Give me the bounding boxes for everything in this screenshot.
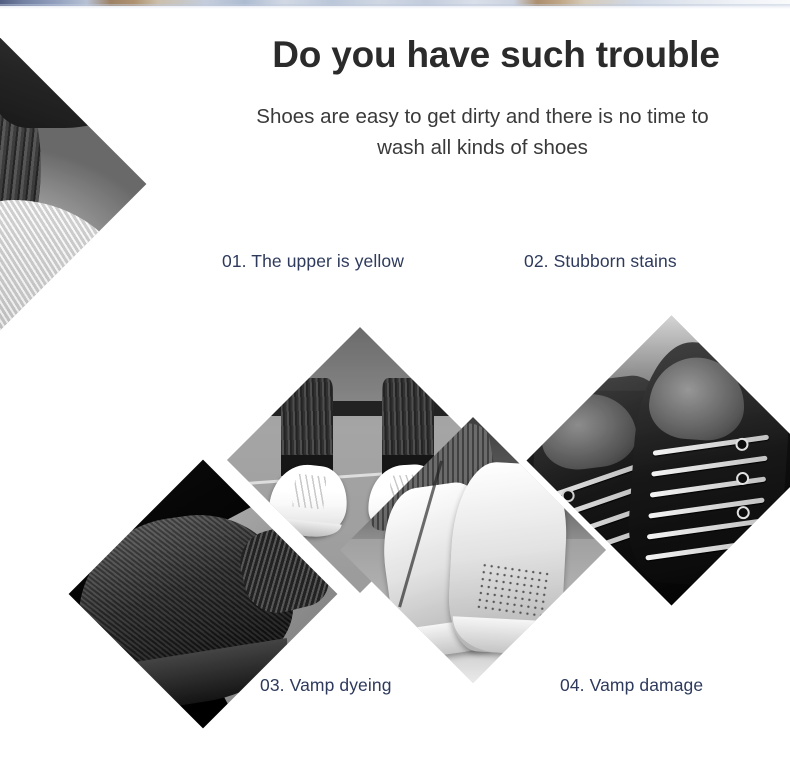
hero-diamond-image xyxy=(0,0,146,376)
problem-caption-01: 01. The upper is yellow xyxy=(222,251,404,272)
page-subtitle: Shoes are easy to get dirty and there is… xyxy=(210,102,755,164)
page-subtitle-line-1: Shoes are easy to get dirty and there is… xyxy=(256,105,708,128)
page-subtitle-line-2: wash all kinds of shoes xyxy=(210,133,755,164)
top-edge-strip-fade xyxy=(0,4,790,9)
page-title: Do you have such trouble xyxy=(236,34,756,75)
hero-photo xyxy=(0,0,146,376)
problem-caption-04: 04. Vamp damage xyxy=(560,675,703,696)
problem-caption-02: 02. Stubborn stains xyxy=(524,251,677,272)
promo-banner: Do you have such trouble Shoes are easy … xyxy=(0,0,790,780)
problem-caption-03: 03. Vamp dyeing xyxy=(260,675,392,696)
